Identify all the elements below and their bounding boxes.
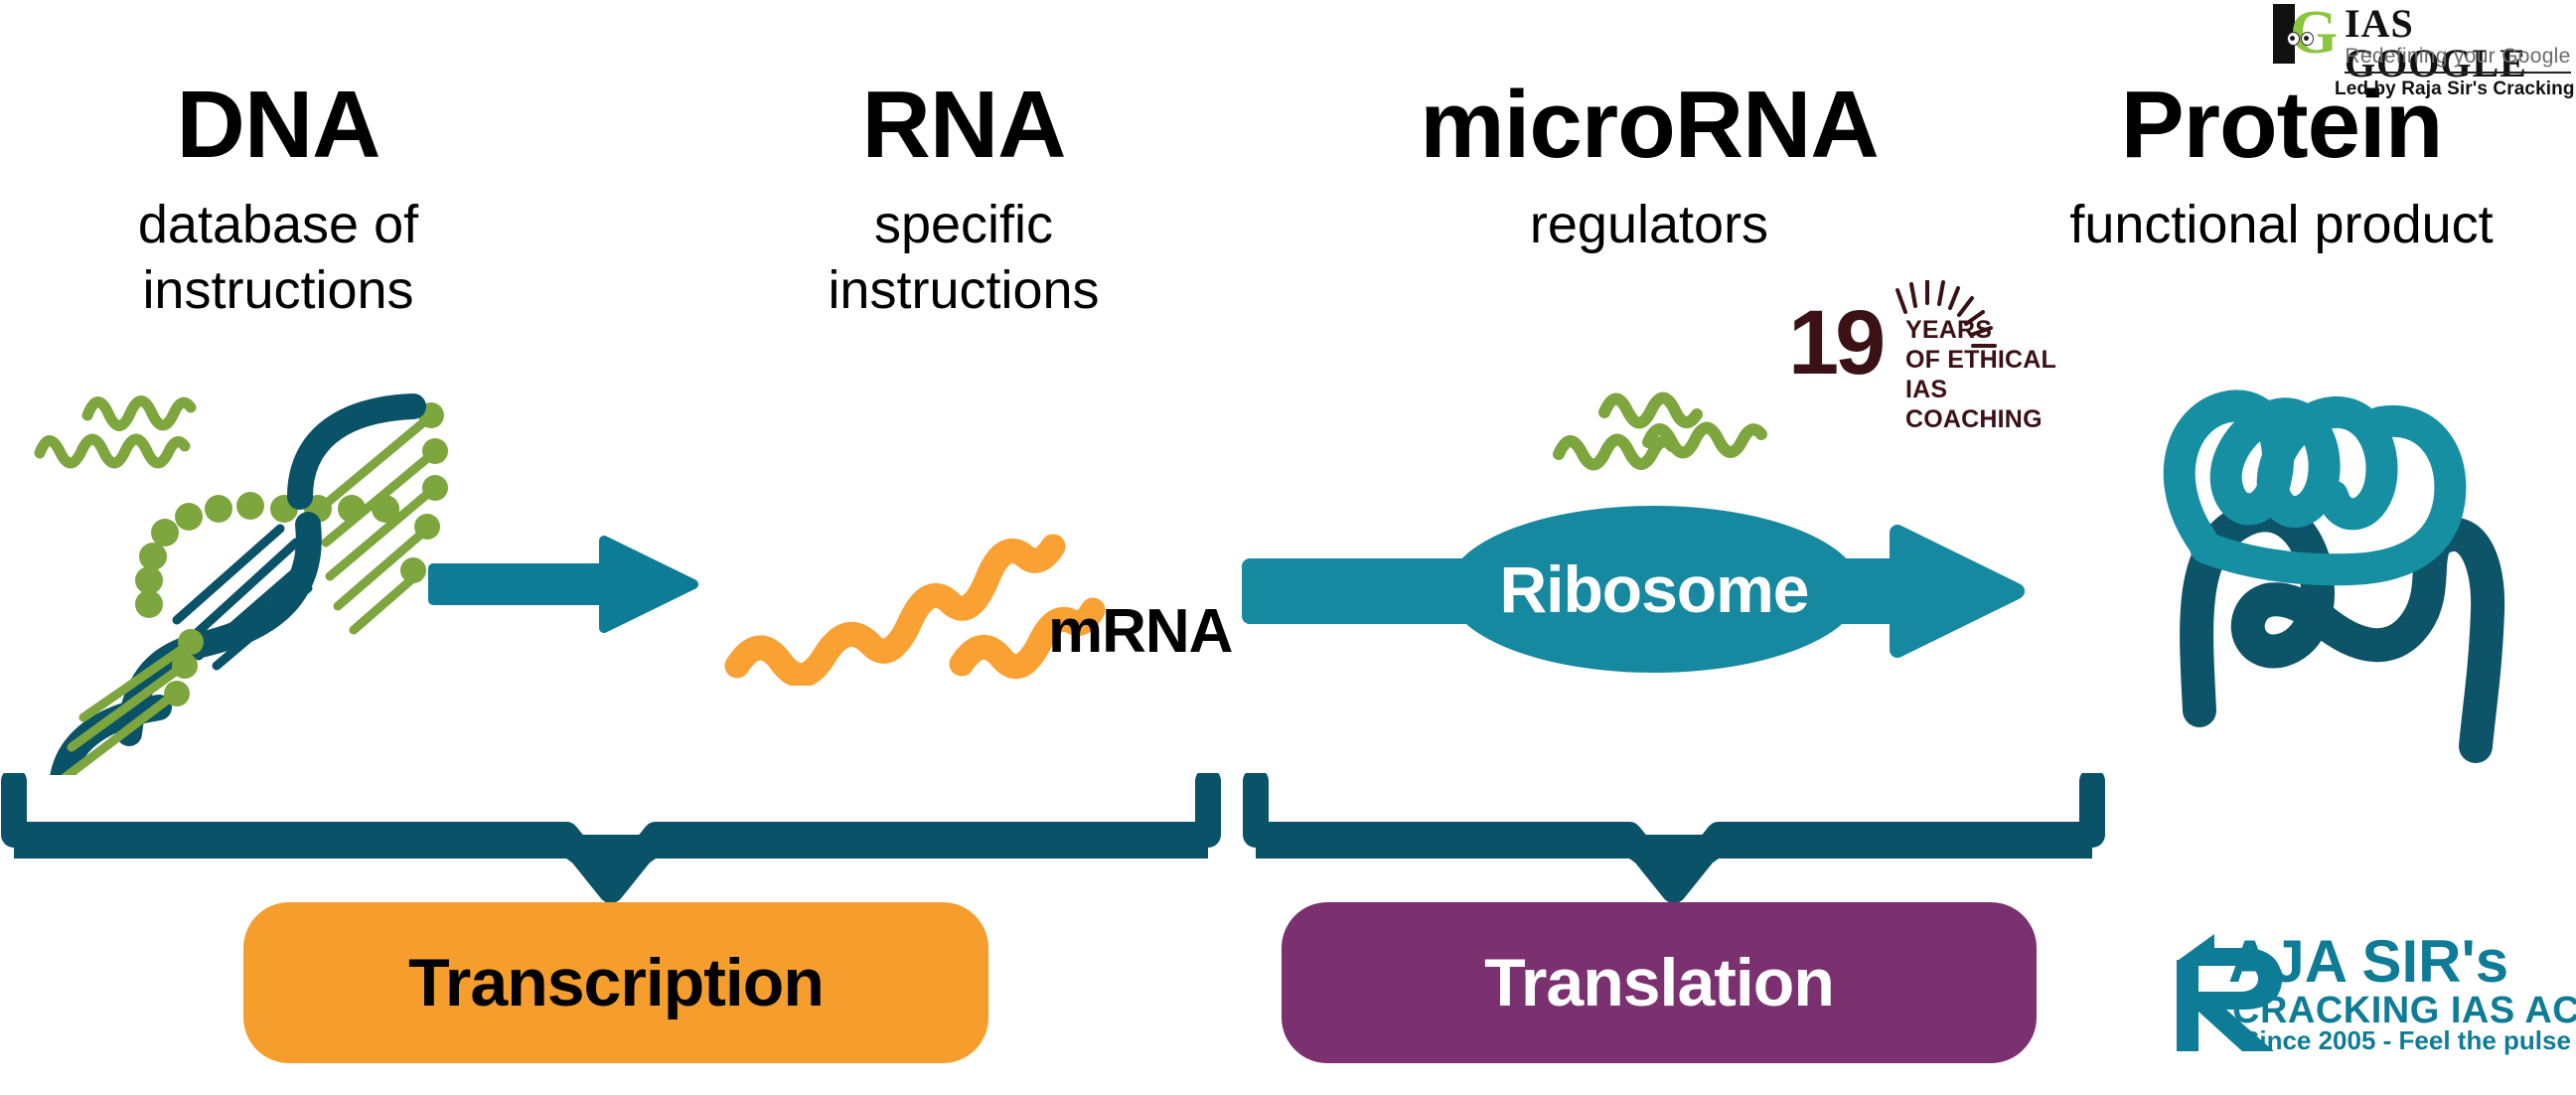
ias-google-tagline: Redefining your Google	[2345, 46, 2571, 67]
raja-sir-main-text: AJA SIR's	[2228, 932, 2508, 992]
raja-sir-sub-text: CRACKING IAS ACADEMY	[2232, 992, 2576, 1029]
stage-pill-translation-label: Translation	[1484, 944, 1834, 1021]
badge-line1: YEARS	[1905, 316, 1992, 346]
mrna-label: mRNA	[1048, 596, 1232, 667]
ribosome-shape: Ribosome	[1445, 505, 1863, 674]
column-title-dna: DNA	[0, 78, 556, 173]
column-subtitle-microrna: regulators	[1321, 195, 1977, 254]
bracket-transcription	[0, 773, 1222, 902]
badge-19-years: 19 YEARS OF ETHICAL IAS COACHING	[1788, 298, 2086, 417]
diagram-canvas: DNA database of instructions RNA specifi…	[0, 0, 2576, 1095]
raja-sir-tagline: Since 2005 - Feel the pulse of UPSC	[2242, 1027, 2576, 1053]
stage-pill-translation[interactable]: Translation	[1282, 902, 2037, 1063]
logo-raja-sir[interactable]: AJA SIR's CRACKING IAS ACADEMY Since 200…	[2171, 924, 2576, 1063]
ias-google-divider	[2345, 72, 2571, 74]
protein-illustration	[2126, 363, 2543, 770]
column-title-rna: RNA	[735, 78, 1192, 173]
ias-google-mark-icon: G	[2273, 4, 2335, 64]
column-subtitle-protein: functional product	[1987, 195, 2576, 254]
badge-line3: IAS COACHING	[1905, 376, 2086, 434]
badge-number: 19	[1788, 306, 1882, 381]
dna-helix-illustration	[10, 358, 477, 775]
arrow-dna-to-rna	[427, 527, 715, 646]
ias-google-led-by: Led by Raja Sir's Cracking IAS	[2335, 79, 2573, 98]
stage-pill-transcription[interactable]: Transcription	[243, 902, 988, 1063]
badge-line2: OF ETHICAL	[1905, 346, 2056, 376]
column-title-microrna: microRNA	[1321, 78, 1977, 173]
column-subtitle-dna-line1: database of	[0, 195, 556, 254]
stage-pill-transcription-label: Transcription	[408, 944, 824, 1021]
logo-ias-google[interactable]: G IAS GOOGLE Redefining your Google Led …	[2273, 2, 2576, 79]
column-subtitle-dna-line2: instructions	[0, 260, 556, 320]
column-subtitle-rna-line2: instructions	[735, 260, 1192, 320]
bracket-translation	[1242, 773, 2106, 902]
column-subtitle-rna-line1: specific	[735, 195, 1192, 254]
